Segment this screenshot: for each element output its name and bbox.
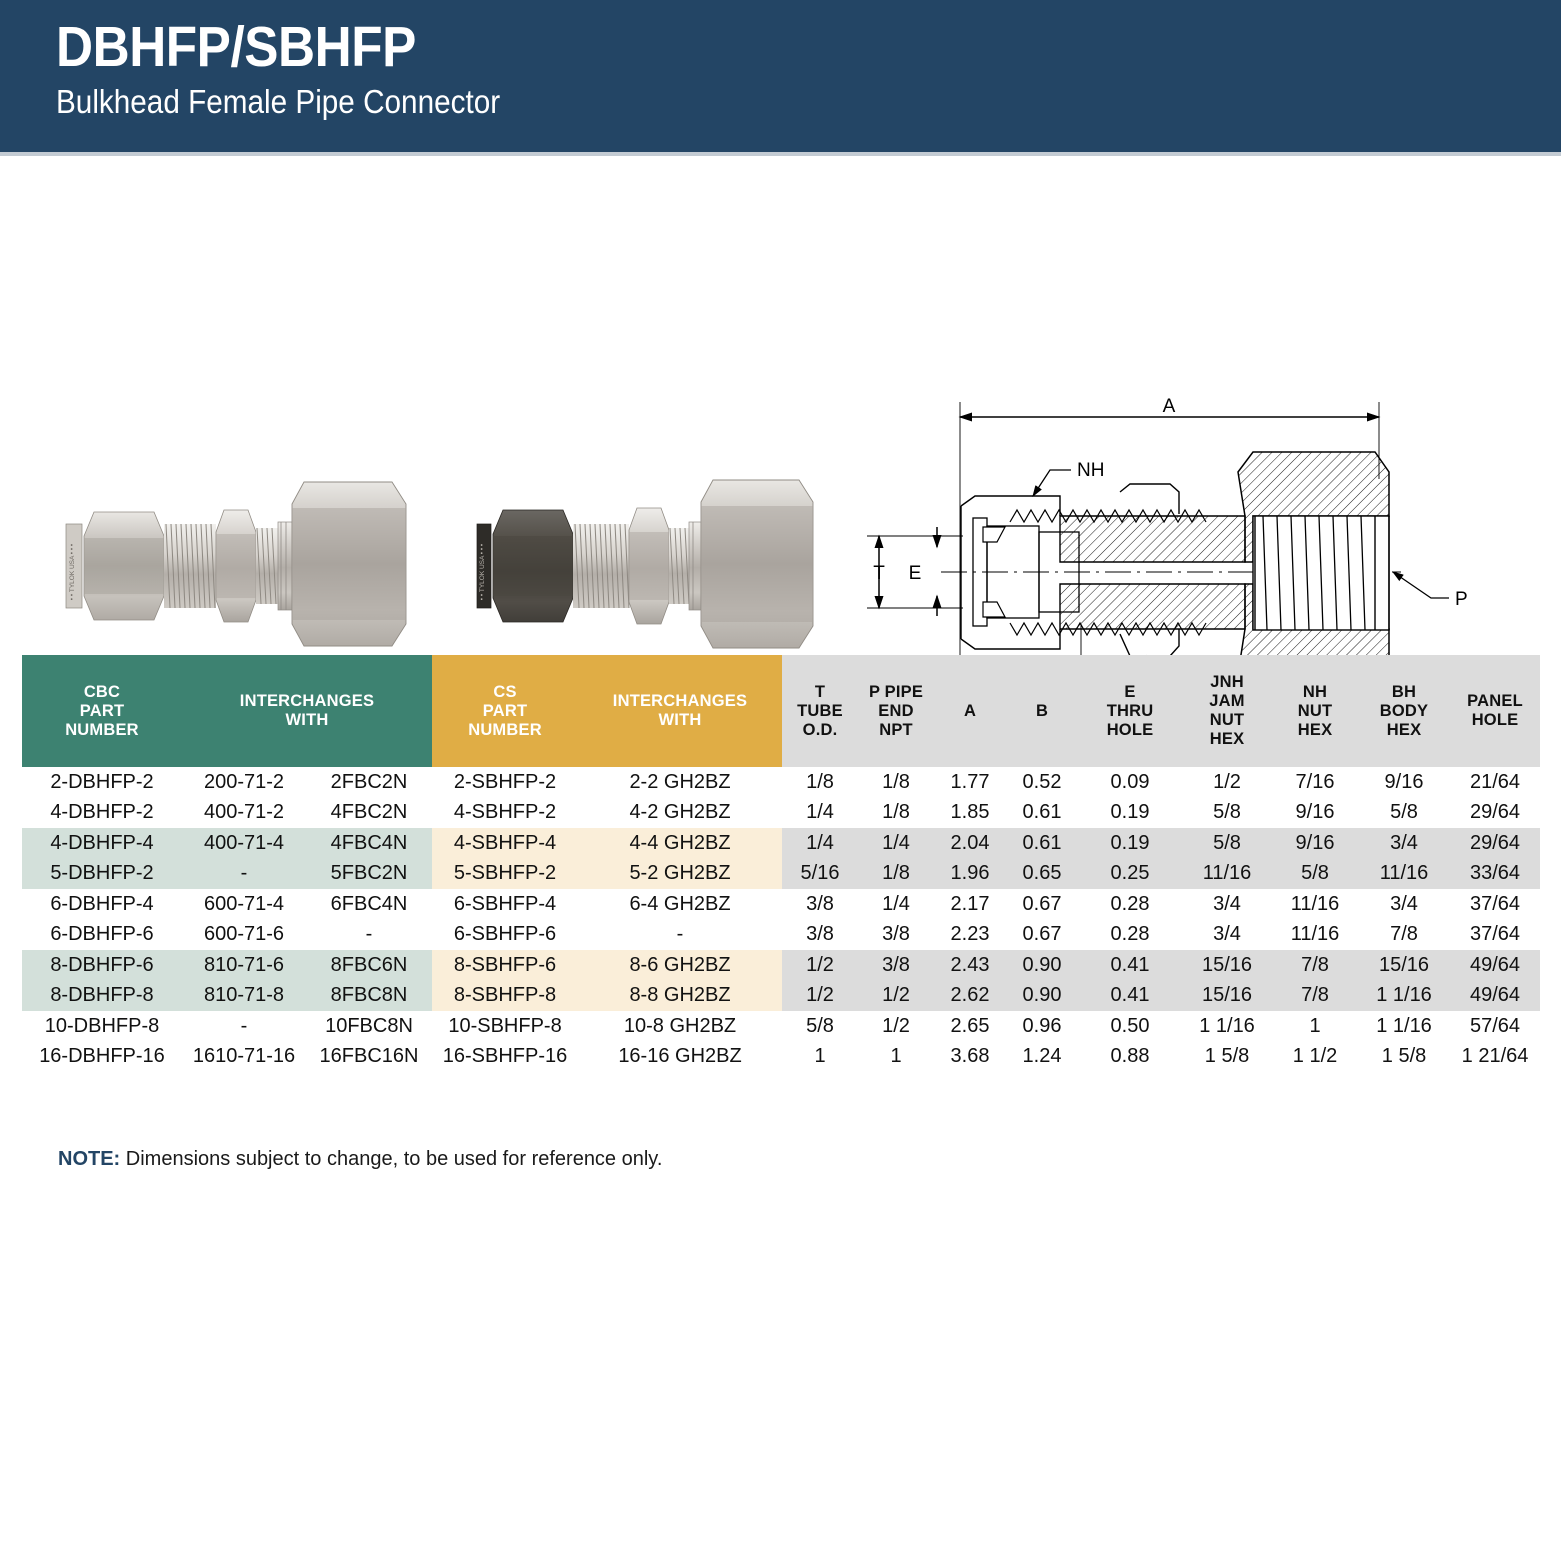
drawing-label-nh: NH <box>1077 460 1104 481</box>
cell-cs_int: 6-4 GH2BZ <box>578 889 782 920</box>
note-label: NOTE: <box>58 1148 120 1170</box>
cell-cbc_int1: 400-71-4 <box>182 828 306 859</box>
page-title: DBHFP/SBHFP <box>56 14 1411 80</box>
cell-b: 0.90 <box>1006 950 1078 981</box>
cell-cbc_part: 16-DBHFP-16 <box>22 1042 182 1073</box>
cell-t: 1/2 <box>782 981 858 1012</box>
cell-cbc_int1: 600-71-4 <box>182 889 306 920</box>
cell-nh: 1 <box>1272 1011 1358 1042</box>
cell-jnh: 1 5/8 <box>1182 1042 1272 1073</box>
drawing-label-t: T <box>873 563 885 584</box>
table-row: 6-DBHFP-6600-71-6-6-SBHFP-6-3/83/82.230.… <box>22 920 1540 951</box>
note: NOTE: Dimensions subject to change, to b… <box>58 1148 662 1171</box>
cell-cs_int: - <box>578 920 782 951</box>
cell-bh: 1 1/16 <box>1358 1011 1450 1042</box>
cell-cbc_int2: 10FBC8N <box>306 1011 432 1042</box>
header-jnh-jam-nut-hex: JNH JAM NUT HEX <box>1182 655 1272 767</box>
cell-jnh: 3/4 <box>1182 889 1272 920</box>
cell-panel: 49/64 <box>1450 950 1540 981</box>
cell-bh: 7/8 <box>1358 920 1450 951</box>
cell-cbc_int2: 8FBC8N <box>306 981 432 1012</box>
cell-e: 0.41 <box>1078 981 1182 1012</box>
header-t-tube-od: T TUBE O.D. <box>782 655 858 767</box>
cell-cbc_part: 2-DBHFP-2 <box>22 767 182 798</box>
cell-cs_int: 4-4 GH2BZ <box>578 828 782 859</box>
cell-panel: 49/64 <box>1450 981 1540 1012</box>
cell-t: 1/8 <box>782 767 858 798</box>
note-text: Dimensions subject to change, to be used… <box>120 1148 662 1170</box>
cell-panel: 57/64 <box>1450 1011 1540 1042</box>
cell-nh: 11/16 <box>1272 920 1358 951</box>
table-row: 8-DBHFP-8810-71-88FBC8N8-SBHFP-88-8 GH2B… <box>22 981 1540 1012</box>
cell-t: 1/4 <box>782 798 858 829</box>
cell-bh: 5/8 <box>1358 798 1450 829</box>
cell-p: 1 <box>858 1042 934 1073</box>
cell-cs_part: 2-SBHFP-2 <box>432 767 578 798</box>
table-row: 8-DBHFP-6810-71-68FBC6N8-SBHFP-68-6 GH2B… <box>22 950 1540 981</box>
cell-jnh: 15/16 <box>1182 950 1272 981</box>
cell-t: 3/8 <box>782 920 858 951</box>
header-cs-part-number: CS PART NUMBER <box>432 655 578 767</box>
cell-a: 2.17 <box>934 889 1006 920</box>
cell-cbc_int1: 810-71-8 <box>182 981 306 1012</box>
cell-cs_part: 4-SBHFP-4 <box>432 828 578 859</box>
photo-marking-text: • • TYLOK USA • • • <box>69 543 76 600</box>
cell-b: 0.61 <box>1006 828 1078 859</box>
cell-e: 0.19 <box>1078 828 1182 859</box>
cell-a: 1.96 <box>934 859 1006 890</box>
cell-t: 5/16 <box>782 859 858 890</box>
cell-bh: 1 5/8 <box>1358 1042 1450 1073</box>
cell-nh: 5/8 <box>1272 859 1358 890</box>
cell-cbc_int1: 810-71-6 <box>182 950 306 981</box>
cell-p: 1/4 <box>858 828 934 859</box>
cell-cbc_part: 4-DBHFP-4 <box>22 828 182 859</box>
cell-cs_part: 16-SBHFP-16 <box>432 1042 578 1073</box>
drawing-label-a: A <box>1163 396 1176 417</box>
cell-b: 0.96 <box>1006 1011 1078 1042</box>
cell-b: 0.61 <box>1006 798 1078 829</box>
cell-a: 2.04 <box>934 828 1006 859</box>
drawing-label-p: P <box>1455 589 1468 610</box>
cell-bh: 9/16 <box>1358 767 1450 798</box>
cell-p: 3/8 <box>858 950 934 981</box>
cell-cbc_part: 8-DBHFP-6 <box>22 950 182 981</box>
cell-cs_int: 16-16 GH2BZ <box>578 1042 782 1073</box>
cell-nh: 7/16 <box>1272 767 1358 798</box>
cell-p: 3/8 <box>858 920 934 951</box>
cell-b: 0.65 <box>1006 859 1078 890</box>
cell-cbc_int2: 4FBC4N <box>306 828 432 859</box>
cell-cbc_part: 6-DBHFP-6 <box>22 920 182 951</box>
cell-cbc_int2: 16FBC16N <box>306 1042 432 1073</box>
cell-a: 2.62 <box>934 981 1006 1012</box>
cell-b: 1.24 <box>1006 1042 1078 1073</box>
cell-e: 0.25 <box>1078 859 1182 890</box>
cell-e: 0.09 <box>1078 767 1182 798</box>
cell-t: 3/8 <box>782 889 858 920</box>
cell-jnh: 1/2 <box>1182 767 1272 798</box>
cell-cbc_int2: 6FBC4N <box>306 889 432 920</box>
header-bh-body-hex: BH BODY HEX <box>1358 655 1450 767</box>
cell-bh: 3/4 <box>1358 889 1450 920</box>
cell-cbc_int1: 600-71-6 <box>182 920 306 951</box>
cell-e: 0.41 <box>1078 950 1182 981</box>
cell-cbc_int2: 5FBC2N <box>306 859 432 890</box>
table-header-row: CBC PART NUMBER INTERCHANGES WITH CS PAR… <box>22 655 1540 767</box>
header-b: B <box>1006 655 1078 767</box>
cell-panel: 21/64 <box>1450 767 1540 798</box>
cell-bh: 3/4 <box>1358 828 1450 859</box>
cell-cs_int: 2-2 GH2BZ <box>578 767 782 798</box>
drawing-label-e: E <box>909 563 922 584</box>
table-body: 2-DBHFP-2200-71-22FBC2N2-SBHFP-22-2 GH2B… <box>22 767 1540 1072</box>
cell-panel: 37/64 <box>1450 920 1540 951</box>
cell-panel: 37/64 <box>1450 889 1540 920</box>
cell-jnh: 15/16 <box>1182 981 1272 1012</box>
cell-cs_int: 4-2 GH2BZ <box>578 798 782 829</box>
cell-cbc_part: 5-DBHFP-2 <box>22 859 182 890</box>
cell-jnh: 3/4 <box>1182 920 1272 951</box>
cell-bh: 11/16 <box>1358 859 1450 890</box>
cell-cs_int: 8-8 GH2BZ <box>578 981 782 1012</box>
cell-nh: 7/8 <box>1272 950 1358 981</box>
table-row: 5-DBHFP-2-5FBC2N5-SBHFP-25-2 GH2BZ5/161/… <box>22 859 1540 890</box>
cell-bh: 1 1/16 <box>1358 981 1450 1012</box>
cell-cbc_int1: 400-71-2 <box>182 798 306 829</box>
cell-p: 1/4 <box>858 889 934 920</box>
cell-cbc_part: 8-DBHFP-8 <box>22 981 182 1012</box>
cell-cbc_part: 10-DBHFP-8 <box>22 1011 182 1042</box>
cell-a: 2.43 <box>934 950 1006 981</box>
header-cbc-part-number: CBC PART NUMBER <box>22 655 182 767</box>
cell-t: 5/8 <box>782 1011 858 1042</box>
product-photo-stainless: • • TYLOK USA • • • <box>62 476 432 651</box>
cell-p: 1/2 <box>858 981 934 1012</box>
cell-jnh: 11/16 <box>1182 859 1272 890</box>
header-a: A <box>934 655 1006 767</box>
cell-cs_part: 5-SBHFP-2 <box>432 859 578 890</box>
cell-jnh: 5/8 <box>1182 798 1272 829</box>
cell-cs_int: 8-6 GH2BZ <box>578 950 782 981</box>
cell-nh: 9/16 <box>1272 828 1358 859</box>
cell-cbc_part: 6-DBHFP-4 <box>22 889 182 920</box>
cell-t: 1/4 <box>782 828 858 859</box>
cell-p: 1/8 <box>858 767 934 798</box>
cell-cbc_int2: - <box>306 920 432 951</box>
cell-a: 1.77 <box>934 767 1006 798</box>
photo-marking-text: • • TYLOK USA • • • <box>479 543 486 600</box>
cell-cs_int: 10-8 GH2BZ <box>578 1011 782 1042</box>
cell-nh: 11/16 <box>1272 889 1358 920</box>
cell-b: 0.52 <box>1006 767 1078 798</box>
cell-cs_part: 10-SBHFP-8 <box>432 1011 578 1042</box>
figures-area: • • TYLOK USA • • • <box>0 156 1561 656</box>
cell-cbc_part: 4-DBHFP-2 <box>22 798 182 829</box>
cell-cs_int: 5-2 GH2BZ <box>578 859 782 890</box>
cell-b: 0.67 <box>1006 889 1078 920</box>
cell-cbc_int2: 2FBC2N <box>306 767 432 798</box>
header-cs-interchanges-with: INTERCHANGES WITH <box>578 655 782 767</box>
cell-p: 1/8 <box>858 859 934 890</box>
header-nh-nut-hex: NH NUT HEX <box>1272 655 1358 767</box>
cell-panel: 29/64 <box>1450 798 1540 829</box>
cell-nh: 7/8 <box>1272 981 1358 1012</box>
cell-p: 1/8 <box>858 798 934 829</box>
cell-cbc_int2: 4FBC2N <box>306 798 432 829</box>
cell-e: 0.88 <box>1078 1042 1182 1073</box>
table-row: 6-DBHFP-4600-71-46FBC4N6-SBHFP-46-4 GH2B… <box>22 889 1540 920</box>
cell-a: 3.68 <box>934 1042 1006 1073</box>
cell-e: 0.28 <box>1078 920 1182 951</box>
page-header: DBHFP/SBHFP Bulkhead Female Pipe Connect… <box>0 0 1561 152</box>
cell-cs_part: 8-SBHFP-8 <box>432 981 578 1012</box>
header-e-thru-hole: E THRU HOLE <box>1078 655 1182 767</box>
cell-nh: 1 1/2 <box>1272 1042 1358 1073</box>
table-row: 4-DBHFP-4400-71-44FBC4N4-SBHFP-44-4 GH2B… <box>22 828 1540 859</box>
cell-cbc_int2: 8FBC6N <box>306 950 432 981</box>
cell-e: 0.19 <box>1078 798 1182 829</box>
header-panel-hole: PANEL HOLE <box>1450 655 1540 767</box>
cell-b: 0.90 <box>1006 981 1078 1012</box>
cell-cs_part: 4-SBHFP-2 <box>432 798 578 829</box>
cell-nh: 9/16 <box>1272 798 1358 829</box>
cell-cbc_int1: 200-71-2 <box>182 767 306 798</box>
cell-cbc_int1: 1610-71-16 <box>182 1042 306 1073</box>
cell-jnh: 5/8 <box>1182 828 1272 859</box>
table-row: 16-DBHFP-161610-71-1616FBC16N16-SBHFP-16… <box>22 1042 1540 1073</box>
cell-bh: 15/16 <box>1358 950 1450 981</box>
cell-p: 1/2 <box>858 1011 934 1042</box>
cell-panel: 1 21/64 <box>1450 1042 1540 1073</box>
cell-t: 1 <box>782 1042 858 1073</box>
cell-cs_part: 6-SBHFP-6 <box>432 920 578 951</box>
product-photo-black-nut: • • TYLOK USA • • • <box>473 476 843 651</box>
cell-jnh: 1 1/16 <box>1182 1011 1272 1042</box>
cell-e: 0.50 <box>1078 1011 1182 1042</box>
header-cbc-interchanges-with: INTERCHANGES WITH <box>182 655 432 767</box>
cell-cs_part: 8-SBHFP-6 <box>432 950 578 981</box>
cell-cbc_int1: - <box>182 859 306 890</box>
header-p-pipe-end-npt: P PIPE END NPT <box>858 655 934 767</box>
cell-panel: 33/64 <box>1450 859 1540 890</box>
table-row: 4-DBHFP-2400-71-24FBC2N4-SBHFP-24-2 GH2B… <box>22 798 1540 829</box>
table-row: 10-DBHFP-8-10FBC8N10-SBHFP-810-8 GH2BZ5/… <box>22 1011 1540 1042</box>
cell-t: 1/2 <box>782 950 858 981</box>
cell-b: 0.67 <box>1006 920 1078 951</box>
cell-e: 0.28 <box>1078 889 1182 920</box>
cell-cbc_int1: - <box>182 1011 306 1042</box>
cell-a: 1.85 <box>934 798 1006 829</box>
cell-panel: 29/64 <box>1450 828 1540 859</box>
specifications-table: CBC PART NUMBER INTERCHANGES WITH CS PAR… <box>22 655 1540 1072</box>
table-row: 2-DBHFP-2200-71-22FBC2N2-SBHFP-22-2 GH2B… <box>22 767 1540 798</box>
cell-a: 2.23 <box>934 920 1006 951</box>
page-subtitle: Bulkhead Female Pipe Connector <box>56 80 1411 124</box>
cell-cs_part: 6-SBHFP-4 <box>432 889 578 920</box>
cell-a: 2.65 <box>934 1011 1006 1042</box>
